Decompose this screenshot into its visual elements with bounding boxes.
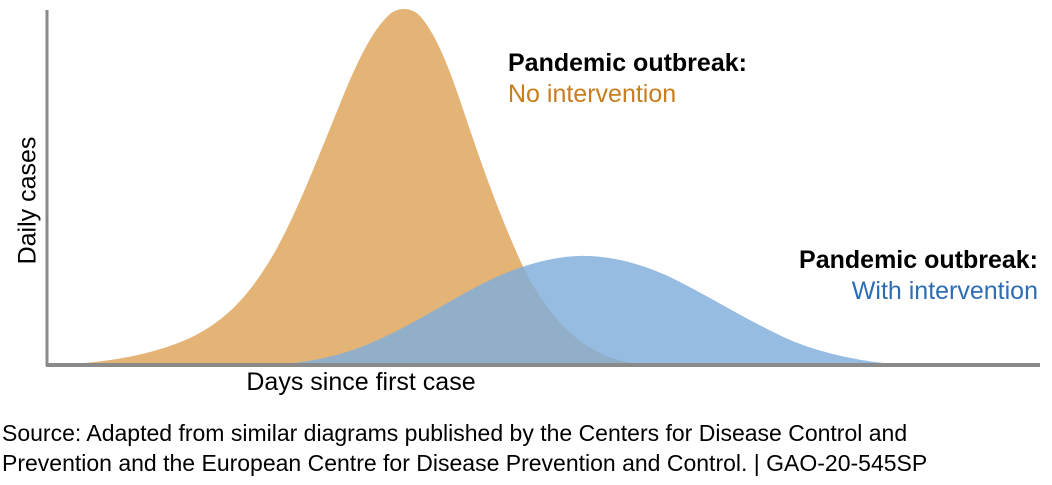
- annotation-with-intervention-heading: Pandemic outbreak:: [799, 245, 1038, 276]
- annotation-no-intervention-heading: Pandemic outbreak:: [508, 48, 747, 79]
- annotation-no-intervention-label: No intervention: [508, 79, 747, 110]
- annotation-with-intervention-label: With intervention: [799, 276, 1038, 307]
- source-note-line-1: Source: Adapted from similar diagrams pu…: [2, 418, 1050, 448]
- pandemic-curve-figure: Daily cases Days since first case Pandem…: [0, 0, 1052, 410]
- annotation-no-intervention: Pandemic outbreak: No intervention: [508, 48, 747, 109]
- source-note-line-2: Prevention and the European Centre for D…: [2, 448, 1050, 478]
- source-note: Source: Adapted from similar diagrams pu…: [2, 418, 1050, 479]
- x-axis-title: Days since first case: [46, 370, 676, 395]
- annotation-with-intervention: Pandemic outbreak: With intervention: [799, 245, 1038, 306]
- y-axis-title: Daily cases: [16, 121, 41, 281]
